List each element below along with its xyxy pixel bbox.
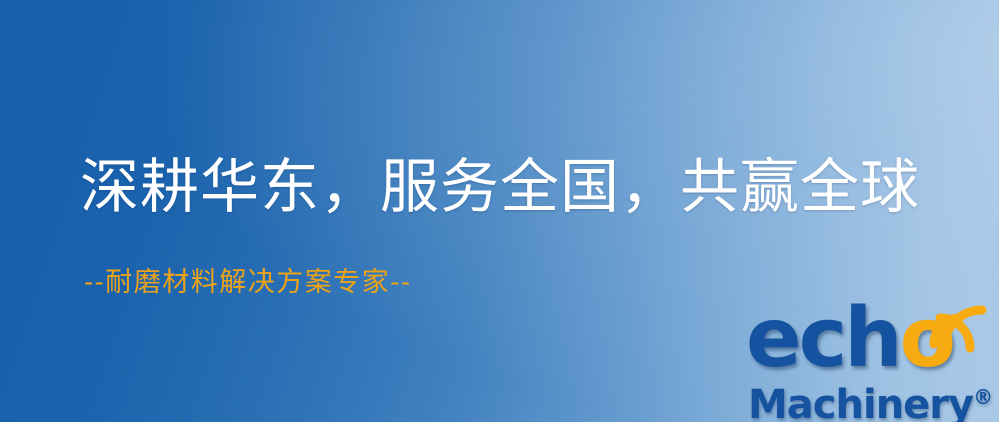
logo-tagline-text: Machinery xyxy=(748,382,973,422)
logo-brand-text: echo xyxy=(746,298,953,380)
logo-brand-prefix: ech xyxy=(746,291,900,386)
banner-headline: 深耕华东，服务全国，共赢全球 xyxy=(80,152,920,222)
signal-waves-icon xyxy=(928,292,996,354)
registered-trademark-icon: ® xyxy=(973,385,993,409)
logo-tagline: Machinery® xyxy=(748,376,993,422)
company-logo: echo Machinery® xyxy=(744,296,996,422)
hero-banner: 深耕华东，服务全国，共赢全球 --耐磨材料解决方案专家-- echo Machi… xyxy=(0,0,999,422)
logo-wordmark: echo xyxy=(744,296,996,380)
banner-subtitle: --耐磨材料解决方案专家-- xyxy=(84,266,412,300)
